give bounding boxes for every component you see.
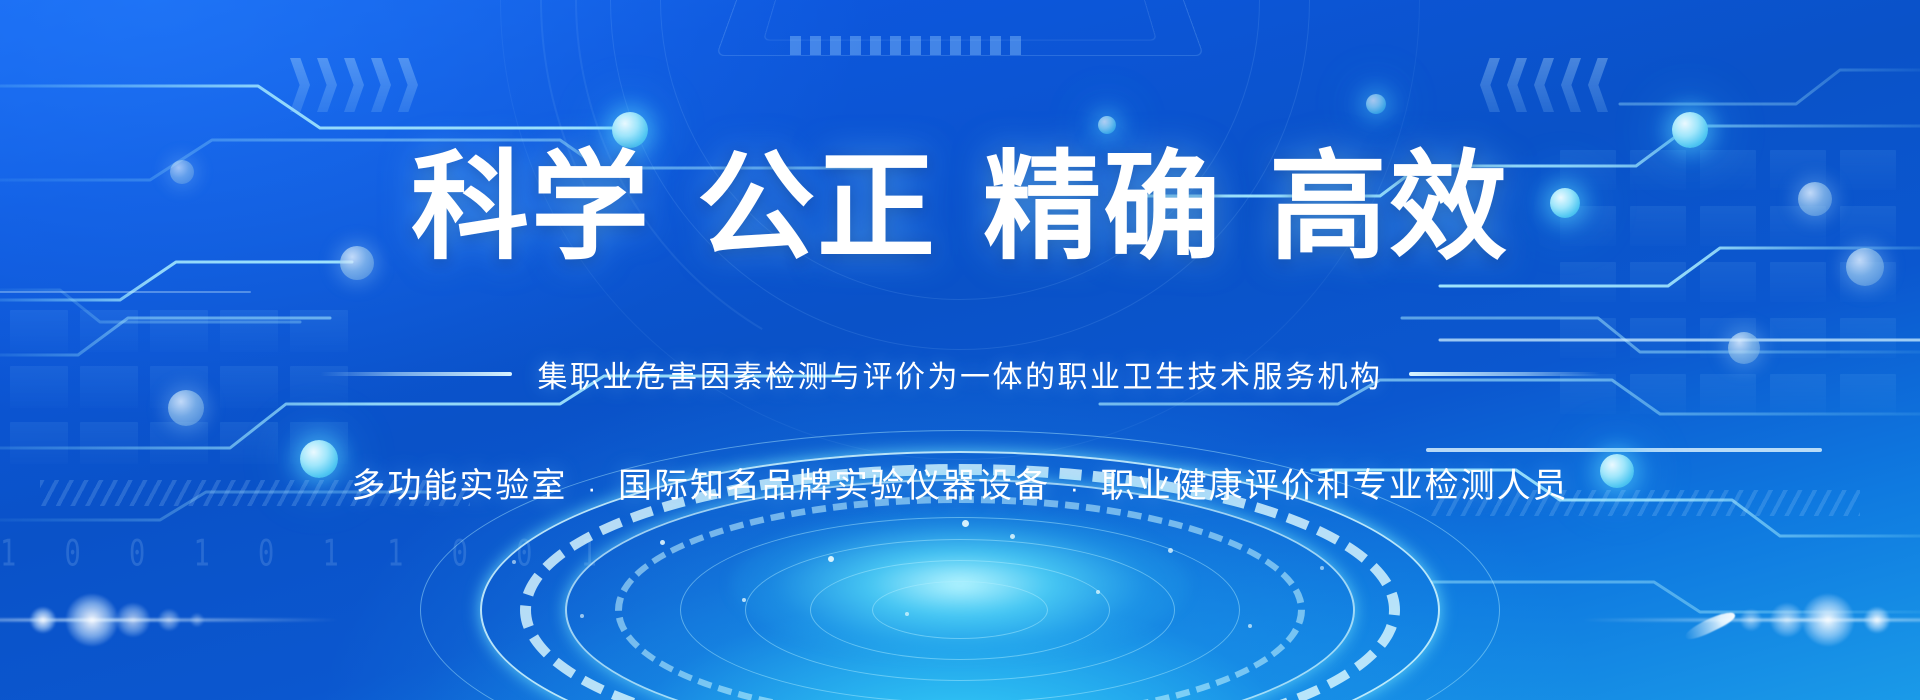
subtitle-row: 集职业危害因素检测与评价为一体的职业卫生技术服务机构	[0, 352, 1920, 396]
decorative-rule-right	[1409, 372, 1601, 376]
headline-word-3: 精确	[983, 142, 1223, 274]
banner-content: 科学公正精确高效 集职业危害因素检测与评价为一体的职业卫生技术服务机构 多功能实…	[0, 0, 1920, 700]
tagline-item-2: 国际知名品牌实验仪器设备	[618, 467, 1050, 505]
tagline: 多功能实验室·国际知名品牌实验仪器设备·职业健康评价和专业检测人员	[0, 458, 1920, 507]
tagline-separator: ·	[1050, 473, 1101, 504]
decorative-rule-left	[320, 372, 512, 376]
hero-banner: 1 0 0 1 0 1 1 0 0 1 0 1	[0, 0, 1920, 700]
subtitle: 集职业危害因素检测与评价为一体的职业卫生技术服务机构	[538, 352, 1383, 396]
headline-word-1: 科学	[411, 142, 651, 274]
tagline-separator: ·	[567, 473, 618, 504]
tagline-item-3: 职业健康评价和专业检测人员	[1101, 467, 1569, 505]
headline-word-4: 高效	[1269, 142, 1509, 274]
tagline-item-1: 多功能实验室	[351, 467, 567, 505]
headline: 科学公正精确高效	[0, 146, 1920, 271]
headline-word-2: 公正	[697, 142, 937, 274]
